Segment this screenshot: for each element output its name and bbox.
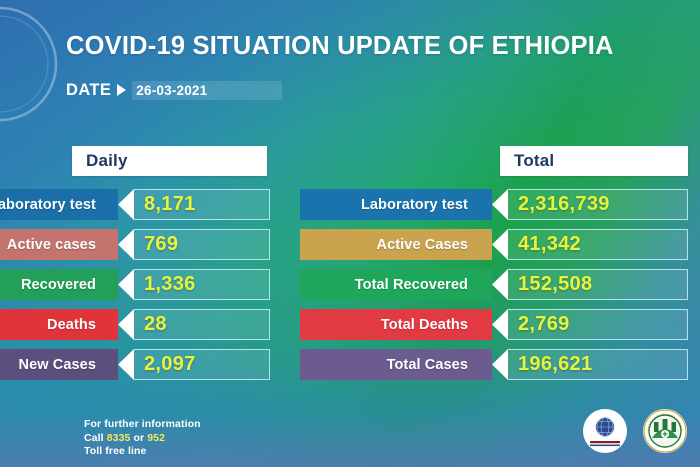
chevron-left-icon [492,349,508,380]
stat-label: New Cases [19,357,96,373]
stat-label-band: Total Recovered [300,269,492,300]
watermark-seal-icon: e ce [0,0,88,152]
footer-line-1: For further information [84,418,201,432]
stat-value: 8,171 [144,193,196,216]
stat-label-band: New Cases [0,349,118,380]
triangle-right-icon [117,84,126,96]
stat-value-panel: 1,336 [134,269,270,300]
stat-label-band: Laboratory test [0,189,118,220]
chevron-left-icon [118,229,134,260]
infographic-poster: e ce COVID-19 SITUATION UPDATE OF ETHIOP… [0,0,700,467]
stat-label: Active cases [7,237,96,253]
stat-row: New Cases2,097 [0,349,270,380]
column-heading-total: Total [500,146,688,176]
stat-label: Total Recovered [355,277,468,293]
stat-row: Active Cases41,342 [300,229,688,260]
stat-value-panel: 41,342 [508,229,688,260]
stat-value: 196,621 [518,353,592,376]
footer-hotline-1: 8335 [107,432,131,444]
chevron-left-icon [118,309,134,340]
stat-row: Total Recovered152,508 [300,269,688,300]
stat-value-panel: 196,621 [508,349,688,380]
page-title: COVID-19 SITUATION UPDATE OF ETHIOPIA [66,32,614,61]
stat-value-panel: 28 [134,309,270,340]
stat-label-band: Total Deaths [300,309,492,340]
footer-line-3: Toll free line [84,445,201,459]
footer-call-word: Call [84,432,107,444]
date-label: DATE [66,81,111,100]
stat-row: Laboratory test8,171 [0,189,270,220]
stat-label: Deaths [47,317,96,333]
column-heading-daily-label: Daily [86,151,128,171]
stat-label: Laboratory test [0,197,96,213]
stat-label: Recovered [21,277,96,293]
chevron-left-icon [492,229,508,260]
stat-label-band: Deaths [0,309,118,340]
date-row: DATE 26-03-2021 [66,80,282,100]
stat-value-panel: 2,097 [134,349,270,380]
ministry-of-health-logo [642,408,688,454]
ephi-logo [582,408,628,454]
stat-value-panel: 152,508 [508,269,688,300]
footer-line-2: Call 8335 or 952 [84,432,201,446]
stat-row: Total Deaths2,769 [300,309,688,340]
stat-row: Laboratory test2,316,739 [300,189,688,220]
stat-value-panel: 769 [134,229,270,260]
stat-value-panel: 2,769 [508,309,688,340]
stat-row: Deaths28 [0,309,270,340]
stat-value: 152,508 [518,273,592,296]
chevron-left-icon [492,189,508,220]
stat-value: 769 [144,233,178,256]
stat-value: 2,769 [518,313,570,336]
stat-label-band: Active Cases [300,229,492,260]
logo-group [582,408,688,454]
date-value: 26-03-2021 [136,83,207,98]
footer-hotline-2: 952 [147,432,165,444]
column-heading-daily: Daily [72,146,267,176]
stat-label: Laboratory test [361,197,468,213]
date-value-highlight: 26-03-2021 [132,81,282,100]
chevron-left-icon [492,309,508,340]
stat-label-band: Laboratory test [300,189,492,220]
stat-label: Total Deaths [381,317,468,333]
chevron-left-icon [118,189,134,220]
stat-value: 28 [144,313,167,336]
stat-value-panel: 8,171 [134,189,270,220]
chevron-left-icon [118,349,134,380]
stat-value: 2,097 [144,353,196,376]
stat-label-band: Active cases [0,229,118,260]
footer-contact-info: For further information Call 8335 or 952… [84,418,201,459]
stat-label-band: Total Cases [300,349,492,380]
chevron-left-icon [118,269,134,300]
chevron-left-icon [492,269,508,300]
stat-value: 41,342 [518,233,581,256]
stat-value: 1,336 [144,273,196,296]
stat-row: Active cases769 [0,229,270,260]
stat-row: Recovered1,336 [0,269,270,300]
stat-label: Total Cases [387,357,468,373]
stat-label-band: Recovered [0,269,118,300]
footer-or-word: or [130,432,147,444]
column-heading-total-label: Total [514,151,554,171]
stat-value-panel: 2,316,739 [508,189,688,220]
stat-label: Active Cases [377,237,468,253]
stat-value: 2,316,739 [518,193,610,216]
stat-row: Total Cases196,621 [300,349,688,380]
